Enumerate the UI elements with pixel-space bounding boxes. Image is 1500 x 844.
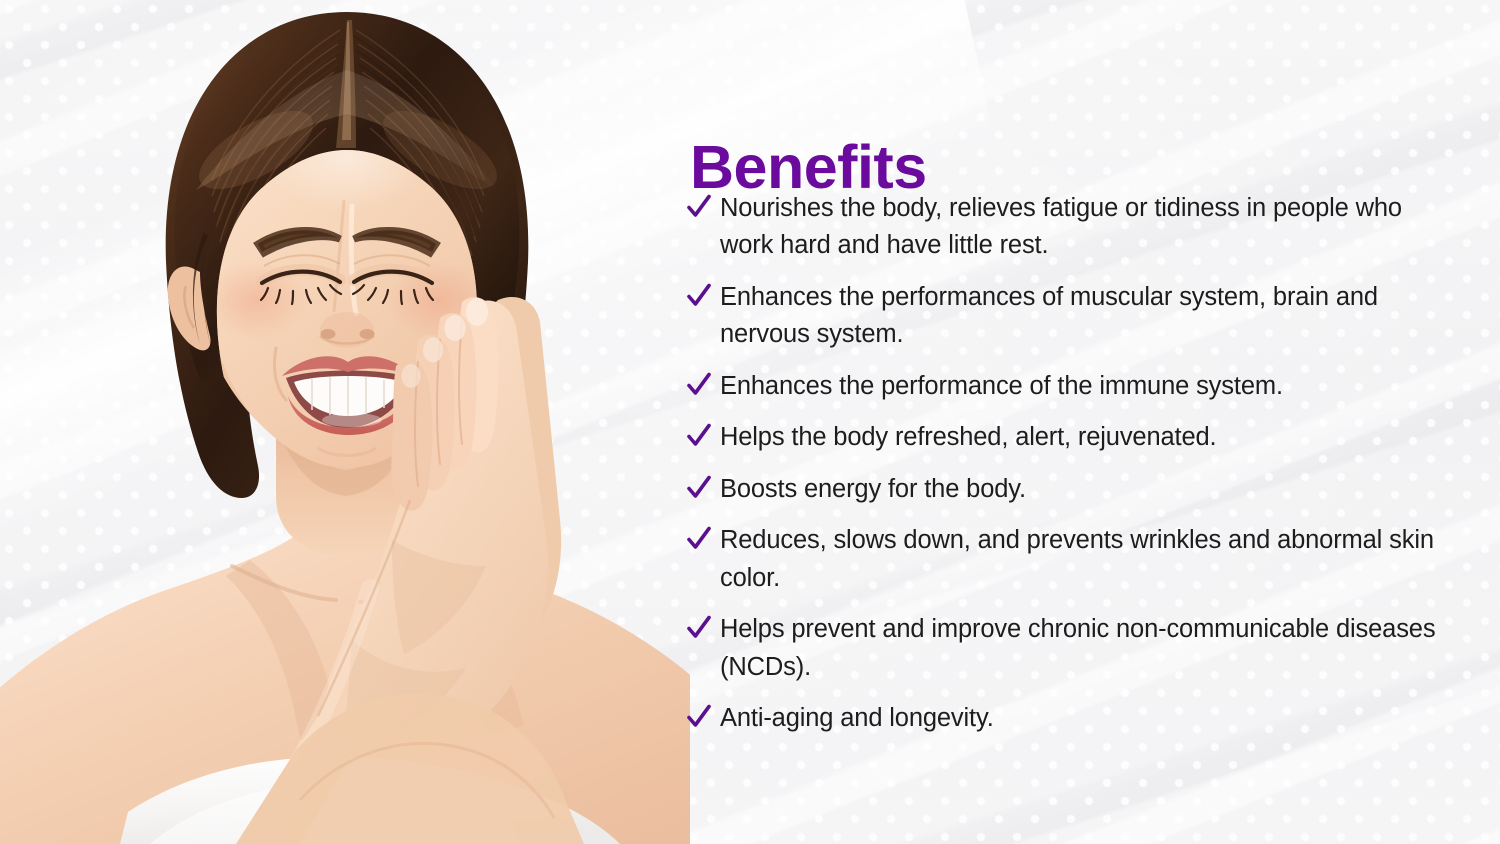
check-icon [686, 701, 712, 731]
page-title: Benefits [690, 137, 927, 198]
list-item-label: Boosts energy for the body. [720, 471, 1454, 508]
list-item: Anti-aging and longevity. [686, 700, 1454, 737]
list-item-label: Reduces, slows down, and prevents wrinkl… [720, 522, 1454, 597]
list-item-label: Enhances the performances of muscular sy… [720, 279, 1454, 354]
list-item-label: Enhances the performance of the immune s… [720, 368, 1454, 405]
check-icon [686, 280, 712, 310]
list-item-label: Helps the body refreshed, alert, rejuven… [720, 419, 1454, 456]
check-icon [686, 612, 712, 642]
list-item-label: Anti-aging and longevity. [720, 700, 1454, 737]
list-item-label: Nourishes the body, relieves fatigue or … [720, 190, 1454, 265]
list-item: Enhances the performance of the immune s… [686, 368, 1454, 405]
list-item: Helps prevent and improve chronic non-co… [686, 611, 1454, 686]
check-icon [686, 472, 712, 502]
check-icon [686, 369, 712, 399]
list-item: Boosts energy for the body. [686, 471, 1454, 508]
benefits-list: Nourishes the body, relieves fatigue or … [686, 190, 1454, 752]
list-item: Nourishes the body, relieves fatigue or … [686, 190, 1454, 265]
benefits-content: Benefits Nourishes the body, relieves fa… [686, 0, 1500, 844]
check-icon [686, 191, 712, 221]
benefits-banner: Benefits Nourishes the body, relieves fa… [0, 0, 1500, 844]
list-item: Reduces, slows down, and prevents wrinkl… [686, 522, 1454, 597]
list-item: Helps the body refreshed, alert, rejuven… [686, 419, 1454, 456]
model-photo [0, 0, 690, 844]
check-icon [686, 523, 712, 553]
check-icon [686, 420, 712, 450]
list-item-label: Helps prevent and improve chronic non-co… [720, 611, 1454, 686]
list-item: Enhances the performances of muscular sy… [686, 279, 1454, 354]
